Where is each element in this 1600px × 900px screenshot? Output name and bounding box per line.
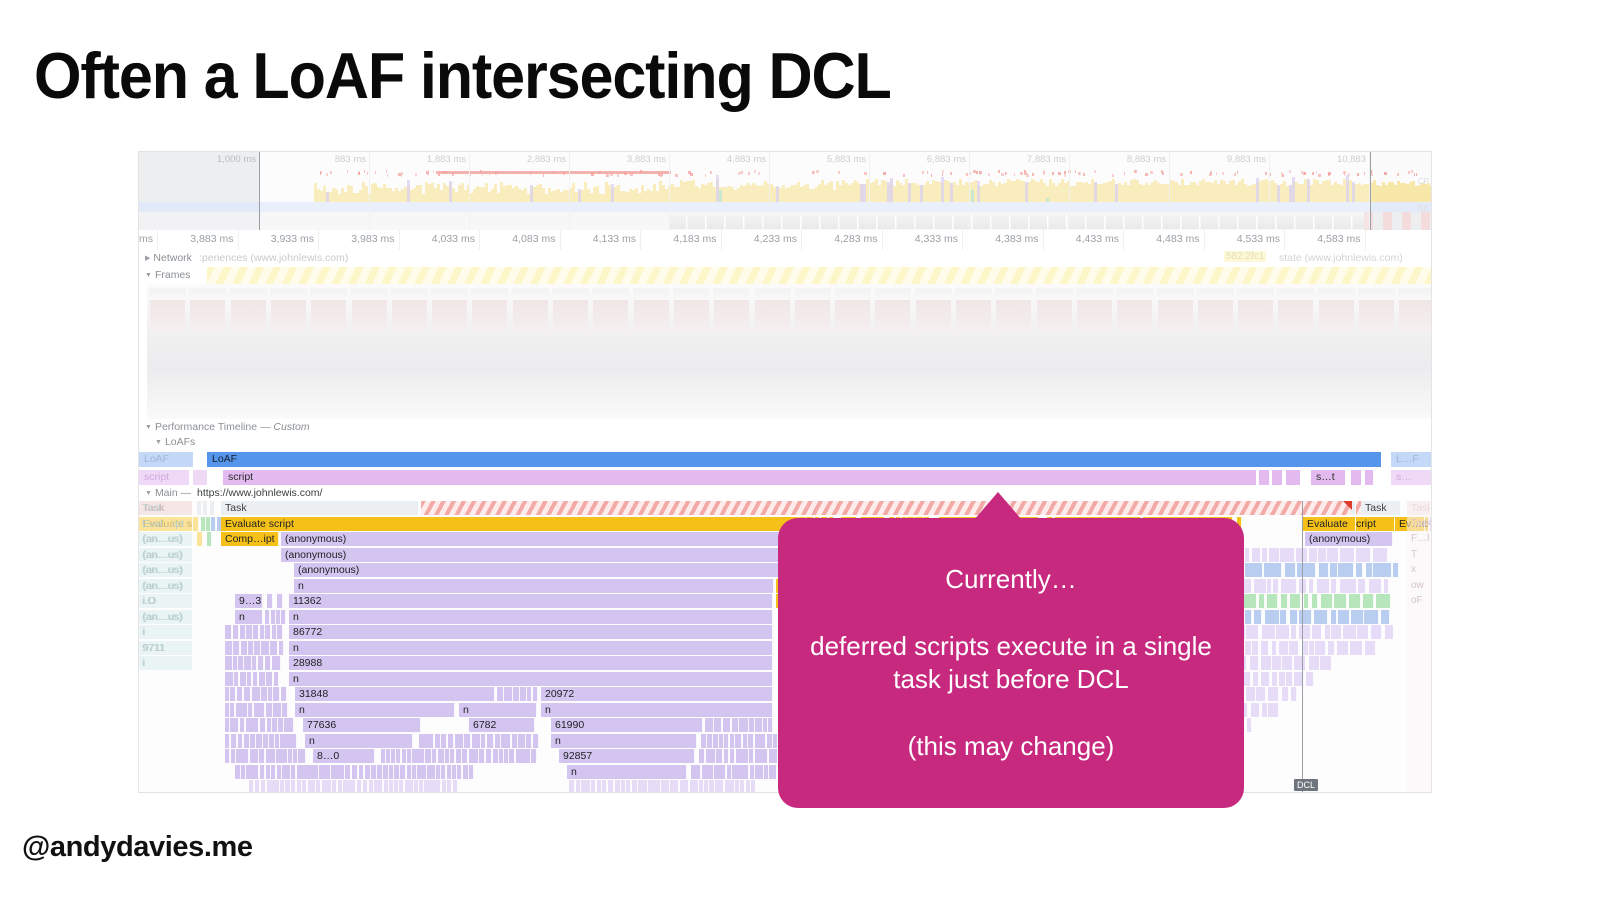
flame-block-small[interactable] — [1265, 610, 1280, 624]
flame-block-small[interactable] — [1251, 703, 1260, 717]
filmstrip-frame[interactable] — [1195, 284, 1237, 419]
filmstrip-frame[interactable] — [550, 284, 592, 419]
flame-num-86772[interactable]: 86772 — [289, 625, 773, 639]
flame-block-small[interactable] — [456, 749, 462, 763]
flame-block-small[interactable] — [1282, 656, 1293, 670]
flame-block-small[interactable] — [767, 734, 773, 748]
flame-block-small[interactable] — [724, 749, 730, 763]
flame-block-small[interactable] — [234, 718, 239, 732]
flame-block-small[interactable] — [1334, 594, 1347, 608]
filmstrip-frame[interactable] — [711, 284, 753, 419]
filmstrip-frame[interactable] — [913, 284, 955, 419]
flame-eval-main[interactable]: Evaluate script — [221, 517, 799, 531]
flame-block-small[interactable] — [365, 765, 371, 779]
flame-block-small[interactable] — [615, 780, 621, 792]
flame-block-small[interactable] — [499, 749, 504, 763]
flame-block-small[interactable] — [338, 780, 343, 792]
flame-num-31848[interactable]: 31848 — [295, 687, 495, 701]
flame-block-small[interactable] — [252, 656, 257, 670]
flame-block-small[interactable] — [369, 780, 374, 792]
flame-block-small[interactable] — [278, 718, 283, 732]
flame-block-small[interactable] — [1384, 579, 1389, 593]
flame-block-small[interactable] — [1376, 594, 1391, 608]
flame-block-small[interactable] — [513, 687, 520, 701]
flame-block-small[interactable] — [1343, 625, 1357, 639]
flame-block-small[interactable] — [701, 734, 707, 748]
flame-n-b[interactable]: n — [289, 610, 773, 624]
flame-block-small[interactable] — [759, 734, 766, 748]
filmstrip-frame[interactable] — [590, 284, 632, 419]
script-bar-right[interactable]: s… — [1391, 470, 1431, 485]
flame-block-small[interactable] — [261, 780, 267, 792]
flame-block-small[interactable] — [332, 780, 337, 792]
flame-block-small[interactable] — [276, 656, 281, 670]
flame-block-small[interactable] — [288, 718, 295, 732]
flame-block-small[interactable] — [1267, 579, 1272, 593]
flame-block-small[interactable] — [1286, 672, 1293, 686]
flame-block-small[interactable] — [363, 780, 368, 792]
flame-task-long-hatch[interactable] — [421, 501, 1401, 515]
flame-block-small[interactable] — [447, 780, 452, 792]
filmstrip-frame[interactable] — [1356, 284, 1398, 419]
flame-block-small[interactable] — [282, 703, 288, 717]
flame-block-small[interactable] — [249, 780, 254, 792]
flame-block-small[interactable] — [1252, 548, 1262, 562]
flame-block-small[interactable] — [231, 734, 238, 748]
flame-block-small[interactable] — [351, 780, 356, 792]
flame-block-small[interactable] — [1350, 641, 1363, 655]
flame-block-small[interactable] — [1349, 594, 1361, 608]
flame-compile[interactable]: Comp…ipt — [221, 532, 279, 546]
flame-num-28988[interactable]: 28988 — [289, 656, 773, 670]
flame-block-small[interactable] — [505, 734, 511, 748]
flame-block-small[interactable] — [281, 687, 287, 701]
flame-block-small[interactable] — [427, 734, 434, 748]
script-bar-ghost[interactable]: script — [139, 470, 189, 485]
flame-n-j[interactable]: n — [567, 765, 687, 779]
flame-block-small[interactable] — [1253, 672, 1259, 686]
flame-block-small[interactable] — [277, 594, 283, 608]
flame-block-small[interactable] — [1262, 703, 1268, 717]
flame-block-small[interactable] — [244, 734, 250, 748]
flame-block-small[interactable] — [277, 625, 283, 639]
flame-block-small[interactable] — [724, 734, 729, 748]
flame-block-small[interactable] — [357, 780, 362, 792]
flame-block-small[interactable] — [1351, 610, 1363, 624]
flame-block-small[interactable] — [1330, 563, 1338, 577]
filmstrip-frame[interactable] — [1034, 284, 1076, 419]
flame-block-small[interactable] — [1272, 672, 1278, 686]
timeline-ruler[interactable]: ms3,883 ms3,933 ms3,983 ms4,033 ms4,083 … — [139, 230, 1431, 251]
flame-block-small[interactable] — [425, 749, 431, 763]
flame-block-small[interactable] — [225, 734, 230, 748]
flame-block-small[interactable] — [207, 532, 212, 546]
flame-block-small[interactable] — [1247, 718, 1252, 732]
flame-block-small[interactable] — [240, 672, 247, 686]
flame-block-small[interactable] — [267, 594, 273, 608]
filmstrip-frame[interactable] — [1155, 284, 1197, 419]
flame-block-small[interactable] — [683, 780, 688, 792]
flame-block-small[interactable] — [313, 765, 319, 779]
flame-block-small[interactable] — [432, 749, 437, 763]
flame-block-small[interactable] — [479, 749, 485, 763]
flame-block-small[interactable] — [463, 765, 469, 779]
overview-minimap[interactable]: 1,000 ms883 ms1,883 ms2,883 ms3,883 ms4,… — [139, 152, 1431, 231]
flame-block-small[interactable] — [291, 765, 296, 779]
flame-block-small[interactable] — [450, 749, 455, 763]
flame-block-small[interactable] — [1246, 625, 1259, 639]
flame-block-small[interactable] — [225, 749, 230, 763]
flame-block-small[interactable] — [1297, 563, 1317, 577]
flame-task-right[interactable]: Task — [1361, 501, 1401, 515]
filmstrip-frame[interactable] — [792, 284, 834, 419]
script-bar-segment[interactable] — [1365, 470, 1373, 485]
flame-block-small[interactable] — [1290, 610, 1298, 624]
flame-block-small[interactable] — [265, 656, 271, 670]
flame-block-small[interactable] — [1254, 610, 1262, 624]
flame-block-small[interactable] — [396, 749, 401, 763]
flame-block-small[interactable] — [718, 780, 724, 792]
script-bar-segment[interactable] — [193, 470, 207, 485]
flame-block-small[interactable] — [464, 734, 471, 748]
flame-num-61990[interactable]: 61990 — [551, 718, 703, 732]
flame-block-small[interactable] — [1245, 610, 1252, 624]
flame-block-small[interactable] — [259, 749, 265, 763]
flame-block-small[interactable] — [235, 765, 241, 779]
script-track[interactable]: script scripts…ts… — [139, 469, 1431, 487]
flame-block-small[interactable] — [421, 765, 427, 779]
filmstrip-frame[interactable] — [1074, 284, 1116, 419]
script-bar-short[interactable]: s…t — [1311, 470, 1345, 485]
flame-block-small[interactable] — [291, 780, 297, 792]
flame-block-small[interactable] — [1369, 579, 1382, 593]
flame-num-77636[interactable]: 77636 — [303, 718, 421, 732]
performance-timeline-header[interactable]: ▼Performance Timeline — Custom — [145, 421, 310, 433]
flame-block-small[interactable] — [1357, 625, 1369, 639]
filmstrip-frame[interactable] — [510, 284, 552, 419]
flame-block-small[interactable] — [748, 734, 754, 748]
flame-block-small[interactable] — [1262, 625, 1276, 639]
script-bar-segment[interactable] — [1259, 470, 1269, 485]
flame-block-small[interactable] — [436, 780, 441, 792]
flame-block-small[interactable] — [1291, 687, 1297, 701]
flame-eval-5[interactable]: Evaluate script — [1303, 517, 1395, 531]
flame-block-small[interactable] — [359, 765, 365, 779]
flame-block-small[interactable] — [1363, 594, 1374, 608]
flame-block-small[interactable] — [1338, 563, 1354, 577]
flame-block-small[interactable] — [233, 625, 240, 639]
flame-block-small[interactable] — [1312, 625, 1322, 639]
flame-block-small[interactable] — [1306, 672, 1315, 686]
flame-block-small[interactable] — [527, 687, 532, 701]
flame-block-small[interactable] — [1262, 548, 1269, 562]
flame-block-small[interactable] — [1245, 563, 1263, 577]
flame-block-small[interactable] — [773, 749, 778, 763]
flame-block-small[interactable] — [755, 718, 764, 732]
script-bar-segment[interactable] — [1272, 470, 1282, 485]
flame-task-sliver[interactable] — [197, 501, 202, 515]
flame-block-small[interactable] — [279, 641, 284, 655]
flame-block-small[interactable] — [1318, 548, 1327, 562]
flame-block-small[interactable] — [263, 734, 270, 748]
flame-block-small[interactable] — [238, 734, 244, 748]
network-track-row[interactable]: ▶Network :periences (www.johnlewis.com) … — [139, 250, 1431, 268]
flame-block-small[interactable] — [260, 718, 267, 732]
flame-block-small[interactable] — [486, 749, 492, 763]
flame-block-small[interactable] — [569, 780, 575, 792]
flame-block-small[interactable] — [1315, 641, 1326, 655]
flame-block-small[interactable] — [721, 765, 727, 779]
flame-block-small[interactable] — [1314, 610, 1329, 624]
flame-block-small[interactable] — [1268, 703, 1279, 717]
flame-block-small[interactable] — [493, 749, 499, 763]
overview-selection-window[interactable] — [259, 152, 1371, 230]
flame-block-small[interactable] — [1272, 641, 1277, 655]
flame-block-small[interactable] — [1280, 610, 1287, 624]
flame-block-small[interactable] — [266, 672, 273, 686]
main-track-header[interactable]: ▼Main — https://www.johnlewis.com/ — [139, 486, 1431, 501]
script-bar-main[interactable]: script — [223, 470, 1256, 485]
flame-anon-1[interactable]: (anonymous) — [281, 532, 799, 546]
flame-block-small[interactable] — [1393, 563, 1399, 577]
flame-block-small[interactable] — [1358, 579, 1366, 593]
flame-block-small[interactable] — [520, 687, 527, 701]
flame-block-small[interactable] — [1331, 610, 1337, 624]
flame-block-small[interactable] — [462, 749, 468, 763]
flame-block-small[interactable] — [352, 765, 358, 779]
flame-block-small[interactable] — [1261, 656, 1272, 670]
flame-block-small[interactable] — [250, 734, 255, 748]
flame-block-small[interactable] — [1356, 563, 1363, 577]
filmstrip-frame[interactable] — [1316, 284, 1358, 419]
flame-block-small[interactable] — [1273, 579, 1279, 593]
flame-block-small[interactable] — [524, 749, 531, 763]
flame-block-small[interactable] — [1373, 548, 1388, 562]
flame-block-small[interactable] — [378, 780, 383, 792]
flame-n-e[interactable]: n — [295, 703, 455, 717]
flame-block-small[interactable] — [1246, 687, 1256, 701]
flame-block-small[interactable] — [248, 703, 253, 717]
dcl-badge[interactable]: DCL — [1294, 779, 1318, 791]
flame-block-small[interactable] — [1264, 563, 1283, 577]
flame-block-small[interactable] — [273, 687, 280, 701]
flame-block-small[interactable] — [438, 749, 445, 763]
flame-block-small[interactable] — [1282, 687, 1289, 701]
loaf-bar-right[interactable]: L…F — [1391, 452, 1431, 467]
filmstrip-frame[interactable] — [228, 284, 270, 419]
flame-anon-5[interactable]: (anonymous) — [1305, 532, 1393, 546]
flame-block-small[interactable] — [244, 749, 249, 763]
flame-block-small[interactable] — [710, 749, 716, 763]
flame-block-small[interactable] — [744, 765, 750, 779]
loaf-bar-ghost[interactable]: LoAF — [139, 452, 193, 467]
frames-track-label[interactable]: ▼Frames — [145, 269, 194, 281]
flame-block-small[interactable] — [699, 749, 705, 763]
filmstrip-frame[interactable] — [469, 284, 511, 419]
flame-block-small[interactable] — [735, 734, 743, 748]
flame-block-small[interactable] — [1289, 641, 1299, 655]
flame-block-small[interactable] — [274, 780, 280, 792]
flame-block-small[interactable] — [591, 780, 596, 792]
flame-block-small[interactable] — [272, 718, 279, 732]
loafs-subsection-header[interactable]: ▼LoAFs — [155, 436, 195, 448]
flame-block-small[interactable] — [497, 687, 504, 701]
flame-block-small[interactable] — [254, 718, 260, 732]
filmstrip-frame[interactable] — [872, 284, 914, 419]
flame-block-small[interactable] — [1371, 625, 1383, 639]
filmstrip[interactable] — [139, 284, 1431, 419]
flame-block-small[interactable] — [735, 780, 740, 792]
flame-block-small[interactable] — [246, 625, 253, 639]
flame-block-small[interactable] — [730, 749, 736, 763]
flame-block-small[interactable] — [281, 610, 286, 624]
flame-block-small[interactable] — [1340, 579, 1358, 593]
flame-n-g[interactable]: n — [541, 703, 773, 717]
flame-block-small[interactable] — [1279, 641, 1289, 655]
flame-block-small[interactable] — [749, 749, 755, 763]
script-bar-segment[interactable] — [1286, 470, 1300, 485]
flame-block-small[interactable] — [1269, 548, 1280, 562]
flame-block-small[interactable] — [1309, 548, 1318, 562]
filmstrip-frame[interactable] — [1275, 284, 1317, 419]
filmstrip-frame[interactable] — [993, 284, 1035, 419]
flame-task-sliver[interactable] — [203, 501, 208, 515]
flame-block-small[interactable] — [339, 765, 345, 779]
flame-block-small[interactable] — [656, 780, 661, 792]
filmstrip-frame[interactable] — [1396, 284, 1431, 419]
flame-block-small[interactable] — [1276, 625, 1290, 639]
flame-block-small[interactable] — [1250, 656, 1259, 670]
flame-block-small[interactable] — [732, 718, 739, 732]
flame-block-small[interactable] — [389, 765, 394, 779]
flame-block-small[interactable] — [253, 625, 259, 639]
flame-block-small[interactable] — [377, 765, 382, 779]
flame-block-small[interactable] — [713, 734, 719, 748]
flame-block-small[interactable] — [723, 718, 731, 732]
filmstrip-frame[interactable] — [752, 284, 794, 419]
flame-block-small[interactable] — [1294, 656, 1307, 670]
flame-block-small[interactable] — [1261, 641, 1269, 655]
flame-n-c[interactable]: n — [289, 641, 773, 655]
flame-block-small[interactable] — [225, 656, 233, 670]
flame-block-small[interactable] — [772, 765, 777, 779]
flame-block-small[interactable] — [255, 780, 260, 792]
script-bar-segment[interactable] — [1351, 470, 1361, 485]
flame-n-a[interactable]: n — [235, 610, 263, 624]
filmstrip-frame[interactable] — [268, 284, 310, 419]
filmstrip-frame[interactable] — [1114, 284, 1156, 419]
flame-block-small[interactable] — [1365, 641, 1376, 655]
flame-block-small[interactable] — [1331, 579, 1338, 593]
flame-block-small[interactable] — [345, 765, 351, 779]
filmstrip-frame[interactable] — [308, 284, 350, 419]
flame-block-small[interactable] — [1317, 579, 1331, 593]
flame-block-small[interactable] — [1285, 563, 1296, 577]
flame-block-small[interactable] — [533, 687, 538, 701]
flame-block-small[interactable] — [448, 734, 454, 748]
flame-block-small[interactable] — [533, 734, 539, 748]
main-track-label[interactable]: ▼Main — — [145, 487, 191, 499]
flame-block-small[interactable] — [504, 687, 512, 701]
flame-block-small[interactable] — [270, 641, 279, 655]
flame-block-small[interactable] — [225, 625, 232, 639]
flame-num-9-3[interactable]: 9…3 — [235, 594, 263, 608]
flame-block-small[interactable] — [453, 780, 458, 792]
flame-block-small[interactable] — [230, 703, 235, 717]
flame-n-f[interactable]: n — [459, 703, 537, 717]
flame-block-small[interactable] — [1340, 548, 1356, 562]
flame-n-lvl5[interactable]: n — [294, 579, 774, 593]
flame-block-small[interactable] — [674, 780, 679, 792]
filmstrip-frame[interactable] — [147, 284, 189, 419]
filmstrip-frame[interactable] — [832, 284, 874, 419]
flame-block-small[interactable] — [1338, 610, 1350, 624]
flame-block-small[interactable] — [274, 672, 279, 686]
flame-block-small[interactable] — [695, 765, 701, 779]
flame-block-small[interactable] — [1356, 548, 1371, 562]
flame-task-sliver[interactable] — [210, 501, 215, 515]
flame-block-small[interactable] — [326, 780, 332, 792]
flame-block-small[interactable] — [225, 641, 233, 655]
flame-block-small[interactable] — [240, 718, 245, 732]
flame-block-small[interactable] — [237, 687, 244, 701]
flame-block-small[interactable] — [1309, 641, 1315, 655]
flame-block-small[interactable] — [241, 641, 247, 655]
flame-block-small[interactable] — [302, 780, 307, 792]
flame-block-small[interactable] — [1325, 625, 1331, 639]
flame-block-small[interactable] — [233, 641, 241, 655]
flame-block-small[interactable] — [1304, 594, 1310, 608]
flame-block-small[interactable] — [441, 734, 447, 748]
flame-block-small[interactable] — [1259, 594, 1265, 608]
flame-anon-lvl3[interactable]: (anonymous) — [281, 548, 799, 562]
flame-block-small[interactable] — [705, 718, 714, 732]
flame-block-small[interactable] — [1337, 641, 1349, 655]
flame-num-8-0[interactable]: 8…0 — [313, 749, 375, 763]
flame-block-small[interactable] — [602, 780, 608, 792]
flame-block-small[interactable] — [1320, 656, 1331, 670]
flame-block-small[interactable] — [244, 687, 251, 701]
flame-block-small[interactable] — [277, 703, 282, 717]
flame-block-small[interactable] — [1267, 594, 1278, 608]
flame-block-small[interactable] — [265, 625, 271, 639]
flame-block-small[interactable] — [1299, 610, 1312, 624]
flame-block-small[interactable] — [1268, 687, 1279, 701]
flame-block-small[interactable] — [473, 749, 479, 763]
flame-block-small[interactable] — [487, 734, 495, 748]
network-track-label[interactable]: ▶Network — [145, 252, 192, 264]
flame-block-small[interactable] — [254, 765, 259, 779]
flame-block-small[interactable] — [234, 672, 240, 686]
flame-block-small[interactable] — [1328, 641, 1335, 655]
flame-block-small[interactable] — [316, 780, 321, 792]
flame-block-small[interactable] — [526, 734, 532, 748]
filmstrip-frame[interactable] — [671, 284, 713, 419]
flame-block-small[interactable] — [1366, 563, 1373, 577]
flame-block-small[interactable] — [1254, 579, 1267, 593]
flame-block-small[interactable] — [457, 765, 462, 779]
flame-block-small[interactable] — [1309, 579, 1314, 593]
flame-block-small[interactable] — [1245, 548, 1250, 562]
flame-block-small[interactable] — [714, 718, 722, 732]
flame-anon-lvl4[interactable]: (anonymous) — [294, 563, 799, 577]
flame-block-small[interactable] — [762, 749, 768, 763]
flame-block-small[interactable] — [626, 780, 632, 792]
flame-block-small[interactable] — [247, 672, 252, 686]
flame-num-92857[interactable]: 92857 — [559, 749, 695, 763]
flame-block-small[interactable] — [442, 780, 447, 792]
flame-block-small[interactable] — [261, 687, 268, 701]
